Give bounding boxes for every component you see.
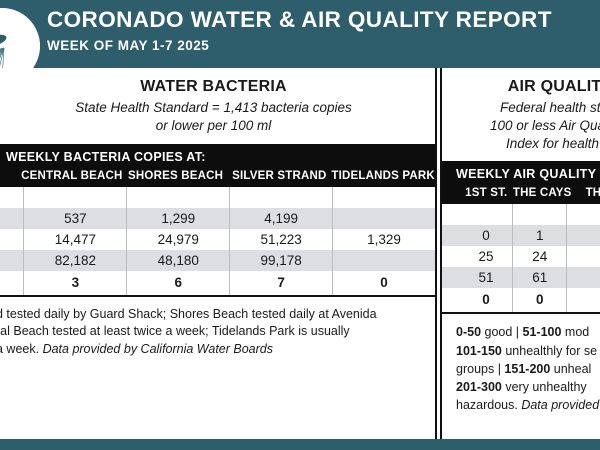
water-cell-3-1: 48,180 xyxy=(127,250,230,271)
water-section-title: WATER BACTERIA xyxy=(0,78,435,96)
table-row: 51 61 xyxy=(442,267,600,288)
table-row: 0 1 xyxy=(442,225,600,246)
air-row-spacer-1 xyxy=(442,225,460,246)
air-cell-4-0: 0 xyxy=(460,288,514,312)
table-row: 82,182 48,180 99,178 xyxy=(0,250,435,271)
air-col-spacer xyxy=(442,187,460,199)
water-table-title: WEEKLY BACTERIA COPIES AT: xyxy=(0,150,435,164)
water-cell-0-1 xyxy=(127,187,230,208)
aqi-desc-0: good | xyxy=(481,325,522,339)
air-row-spacer-0 xyxy=(442,204,460,225)
water-footnote-source: Data provided by California Water Boards xyxy=(43,342,273,356)
table-row: 0 0 xyxy=(442,288,600,312)
air-row-spacer-3 xyxy=(442,267,460,288)
footer-bar xyxy=(0,439,600,450)
water-section-heading: WATER BACTERIA State Health Standard = 1… xyxy=(0,68,435,135)
air-cell-0-1 xyxy=(513,204,567,225)
report-header: CORONADO WATER & AIR QUALITY REPORT WEEK… xyxy=(0,0,600,68)
air-col-header-2: TH xyxy=(567,187,600,199)
water-footnote-line1: d tested daily by Guard Shack; Shores Be… xyxy=(0,306,431,324)
air-row-spacer-2 xyxy=(442,246,460,267)
air-quality-legend: 0-50 good | 51-100 mod 101-150 unhealthl… xyxy=(442,314,600,414)
water-cell-2-1: 24,979 xyxy=(127,229,230,250)
water-row-label-3 xyxy=(0,250,24,271)
report-page: CORONADO WATER & AIR QUALITY REPORT WEEK… xyxy=(0,0,600,450)
aqi-source: Data provided xyxy=(521,398,599,412)
water-footnote-line3: a week. Data provided by California Wate… xyxy=(0,341,431,359)
water-cell-2-2: 51,223 xyxy=(230,229,333,250)
water-standard-line1: State Health Standard = 1,413 bacteria c… xyxy=(0,99,435,117)
water-bacteria-panel: WATER BACTERIA State Health Standard = 1… xyxy=(0,68,437,439)
water-cell-1-3 xyxy=(333,208,435,229)
aqi-legend-line-2: groups | 151-200 unheal xyxy=(456,360,600,378)
water-cell-4-1: 6 xyxy=(127,271,230,295)
water-footnote: d tested daily by Guard Shack; Shores Be… xyxy=(0,297,435,359)
air-section-title: AIR QUALITY xyxy=(500,78,600,96)
aqi-legend-line-1: 101-150 unhealthly for se xyxy=(456,342,600,360)
header-text-block: CORONADO WATER & AIR QUALITY REPORT WEEK… xyxy=(47,8,552,53)
coronado-city-seal-icon xyxy=(0,8,40,68)
water-row-label-1 xyxy=(0,208,24,229)
aqi-range-0b: 51-100 xyxy=(523,325,562,339)
water-col-header-1: SHORES BEACH xyxy=(124,170,228,182)
panels-container: WATER BACTERIA State Health Standard = 1… xyxy=(0,68,600,439)
air-cell-3-1: 61 xyxy=(513,267,567,288)
aqi-legend-line-4: hazardous. Data provided xyxy=(456,396,600,414)
air-table-body: 0 1 25 24 51 61 xyxy=(442,204,600,314)
air-standard-line2: 100 or less Air Qua xyxy=(490,117,600,135)
panel-divider xyxy=(437,68,440,439)
water-row-label-4 xyxy=(0,271,24,295)
water-cell-1-2: 4,199 xyxy=(230,208,333,229)
air-cell-4-2 xyxy=(567,288,600,312)
aqi-desc-4: hazardous. xyxy=(456,398,521,412)
table-row xyxy=(442,204,600,225)
table-row: 25 24 xyxy=(442,246,600,267)
aqi-desc-1: unhealthly for se xyxy=(502,344,597,358)
water-row-label-0 xyxy=(0,187,24,208)
aqi-legend-line-3: 201-300 very unhealthy xyxy=(456,378,600,396)
air-table-header: WEEKLY AIR QUALITY 1ST ST. THE CAYS TH xyxy=(442,161,600,204)
air-cell-1-1: 1 xyxy=(513,225,567,246)
water-cell-0-2 xyxy=(230,187,333,208)
table-row xyxy=(0,187,435,208)
air-row-spacer-4 xyxy=(442,288,460,312)
water-cell-0-0 xyxy=(24,187,127,208)
air-col-header-0: 1ST ST. xyxy=(460,187,513,199)
water-col-header-2: SILVER STRAND xyxy=(227,170,331,182)
aqi-desc-2b: unheal xyxy=(550,362,591,376)
water-col-header-0: CENTRAL BEACH xyxy=(20,170,124,182)
water-col-spacer xyxy=(0,170,20,182)
water-table-header: WEEKLY BACTERIA COPIES AT: CENTRAL BEACH… xyxy=(0,144,435,187)
table-row: 537 1,299 4,199 xyxy=(0,208,435,229)
water-standard-line2: or lower per 100 ml xyxy=(0,117,435,135)
aqi-desc-3: very unhealthy xyxy=(502,380,587,394)
aqi-range-3: 201-300 xyxy=(456,380,502,394)
air-cell-4-1: 0 xyxy=(513,288,567,312)
air-cell-0-0 xyxy=(460,204,514,225)
air-cell-2-1: 24 xyxy=(513,246,567,267)
water-cell-3-2: 99,178 xyxy=(230,250,333,271)
water-cell-4-3: 0 xyxy=(333,271,435,295)
water-cell-4-2: 7 xyxy=(230,271,333,295)
air-standard-line3: Index for health xyxy=(506,135,600,153)
water-cell-2-0: 14,477 xyxy=(24,229,127,250)
air-cell-3-2 xyxy=(567,267,600,288)
water-row-label-2 xyxy=(0,229,24,250)
air-cell-2-2 xyxy=(567,246,600,267)
water-cell-0-3 xyxy=(333,187,435,208)
aqi-range-2b: 151-200 xyxy=(504,362,550,376)
water-cell-3-0: 82,182 xyxy=(24,250,127,271)
air-cell-1-2 xyxy=(567,225,600,246)
aqi-legend-line-0: 0-50 good | 51-100 mod xyxy=(456,323,600,341)
aqi-range-1: 101-150 xyxy=(456,344,502,358)
air-cell-2-0: 25 xyxy=(460,246,514,267)
table-row: 3 6 7 0 xyxy=(0,271,435,295)
air-cell-3-0: 51 xyxy=(460,267,514,288)
air-column-headers: 1ST ST. THE CAYS TH xyxy=(442,187,600,199)
water-table-body: 537 1,299 4,199 14,477 24,979 51,223 1,3… xyxy=(0,187,435,297)
aqi-desc-2: groups | xyxy=(456,362,504,376)
aqi-desc-0b: mod xyxy=(561,325,589,339)
water-footnote-line2: ral Beach tested at least twice a week; … xyxy=(0,323,431,341)
water-col-header-3: TIDELANDS PARK xyxy=(331,170,435,182)
page-title: CORONADO WATER & AIR QUALITY REPORT xyxy=(47,8,552,32)
water-cell-4-0: 3 xyxy=(24,271,127,295)
water-cell-1-1: 1,299 xyxy=(127,208,230,229)
air-cell-1-0: 0 xyxy=(460,225,514,246)
air-col-header-1: THE CAYS xyxy=(513,187,567,199)
air-quality-panel: AIR QUALITY Federal health sta 100 or le… xyxy=(440,68,600,439)
water-cell-3-3 xyxy=(333,250,435,271)
table-row: 14,477 24,979 51,223 1,329 xyxy=(0,229,435,250)
water-column-headers: CENTRAL BEACH SHORES BEACH SILVER STRAND… xyxy=(0,170,435,182)
page-subtitle: WEEK OF MAY 1-7 2025 xyxy=(47,38,552,53)
air-standard-line1: Federal health sta xyxy=(500,99,600,117)
air-cell-0-2 xyxy=(567,204,600,225)
water-cell-2-3: 1,329 xyxy=(333,229,435,250)
water-cell-1-0: 537 xyxy=(24,208,127,229)
air-section-heading: AIR QUALITY Federal health sta 100 or le… xyxy=(442,68,600,152)
air-table-title: WEEKLY AIR QUALITY xyxy=(442,167,600,181)
water-footnote-line3-plain: a week. xyxy=(0,342,43,356)
aqi-range-0: 0-50 xyxy=(456,325,481,339)
